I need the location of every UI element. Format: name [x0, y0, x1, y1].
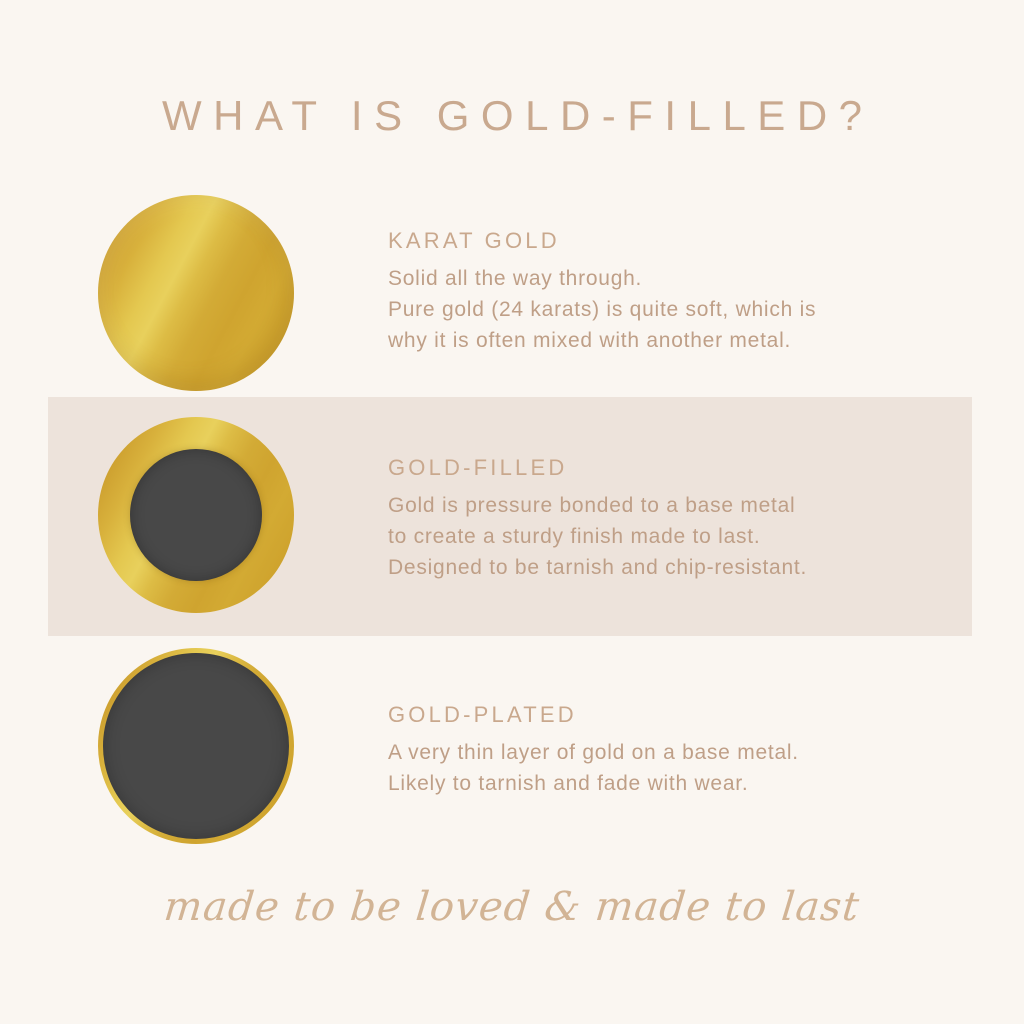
item-line: Likely to tarnish and fade with wear.: [388, 768, 968, 799]
item-heading-gold-plated: GOLD-PLATED: [388, 702, 968, 728]
item-line: why it is often mixed with another metal…: [388, 325, 968, 356]
footer-tagline: made to be loved & made to last: [0, 884, 1024, 930]
solid-gold-circle-icon: [98, 195, 294, 391]
text-block-karat-gold: KARAT GOLD Solid all the way through. Pu…: [388, 228, 968, 356]
item-line: Solid all the way through.: [388, 263, 968, 294]
text-block-gold-plated: GOLD-PLATED A very thin layer of gold on…: [388, 702, 968, 799]
base-metal-core: [130, 449, 262, 581]
item-line: Gold is pressure bonded to a base metal: [388, 490, 968, 521]
base-metal-core: [103, 653, 289, 839]
item-line: Designed to be tarnish and chip-resistan…: [388, 552, 968, 583]
item-line: A very thin layer of gold on a base meta…: [388, 737, 968, 768]
page-title: WHAT IS GOLD-FILLED?: [0, 92, 1024, 140]
thin-gold-rim-circle-icon: [98, 648, 294, 844]
item-line: Pure gold (24 karats) is quite soft, whi…: [388, 294, 968, 325]
row-gold-plated: GOLD-PLATED A very thin layer of gold on…: [0, 648, 1024, 848]
infographic-poster: WHAT IS GOLD-FILLED? KARAT GOLD Solid al…: [0, 0, 1024, 1024]
gold-ring-circle-icon: [98, 417, 294, 613]
row-gold-filled: GOLD-FILLED Gold is pressure bonded to a…: [0, 417, 1024, 617]
item-heading-karat-gold: KARAT GOLD: [388, 228, 968, 254]
item-heading-gold-filled: GOLD-FILLED: [388, 455, 968, 481]
item-line: to create a sturdy finish made to last.: [388, 521, 968, 552]
row-karat-gold: KARAT GOLD Solid all the way through. Pu…: [0, 195, 1024, 395]
text-block-gold-filled: GOLD-FILLED Gold is pressure bonded to a…: [388, 455, 968, 583]
